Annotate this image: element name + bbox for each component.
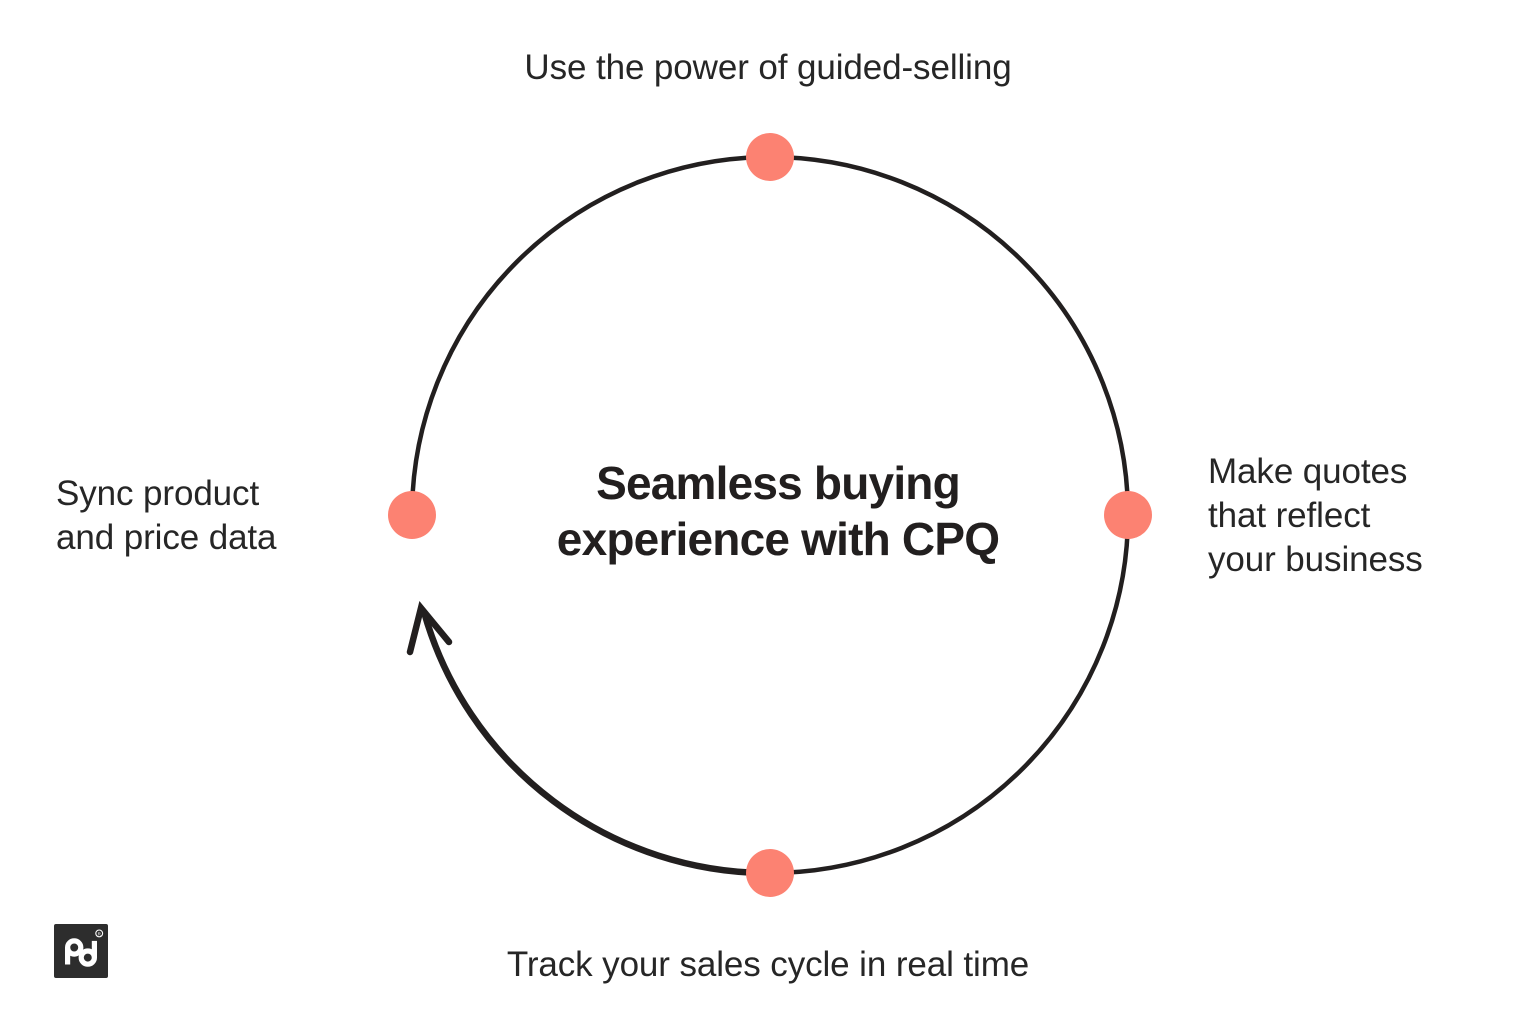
node-label-right: Make quotes that reflect your business (1208, 450, 1508, 581)
pandadoc-logo: R (54, 924, 108, 978)
cycle-direction-arc (424, 612, 770, 873)
node-dot-left[interactable] (388, 491, 436, 539)
node-label-bottom: Track your sales cycle in real time (0, 943, 1536, 987)
node-dot-bottom[interactable] (746, 849, 794, 897)
node-label-top: Use the power of guided-selling (0, 46, 1536, 90)
diagram-center-title: Seamless buying experience with CPQ (468, 455, 1088, 567)
node-label-left: Sync product and price data (56, 472, 386, 560)
registered-mark-glyph: R (98, 931, 101, 936)
node-dot-right[interactable] (1104, 491, 1152, 539)
node-dot-top[interactable] (746, 133, 794, 181)
diagram-canvas: Use the power of guided-selling Make quo… (0, 0, 1536, 1030)
